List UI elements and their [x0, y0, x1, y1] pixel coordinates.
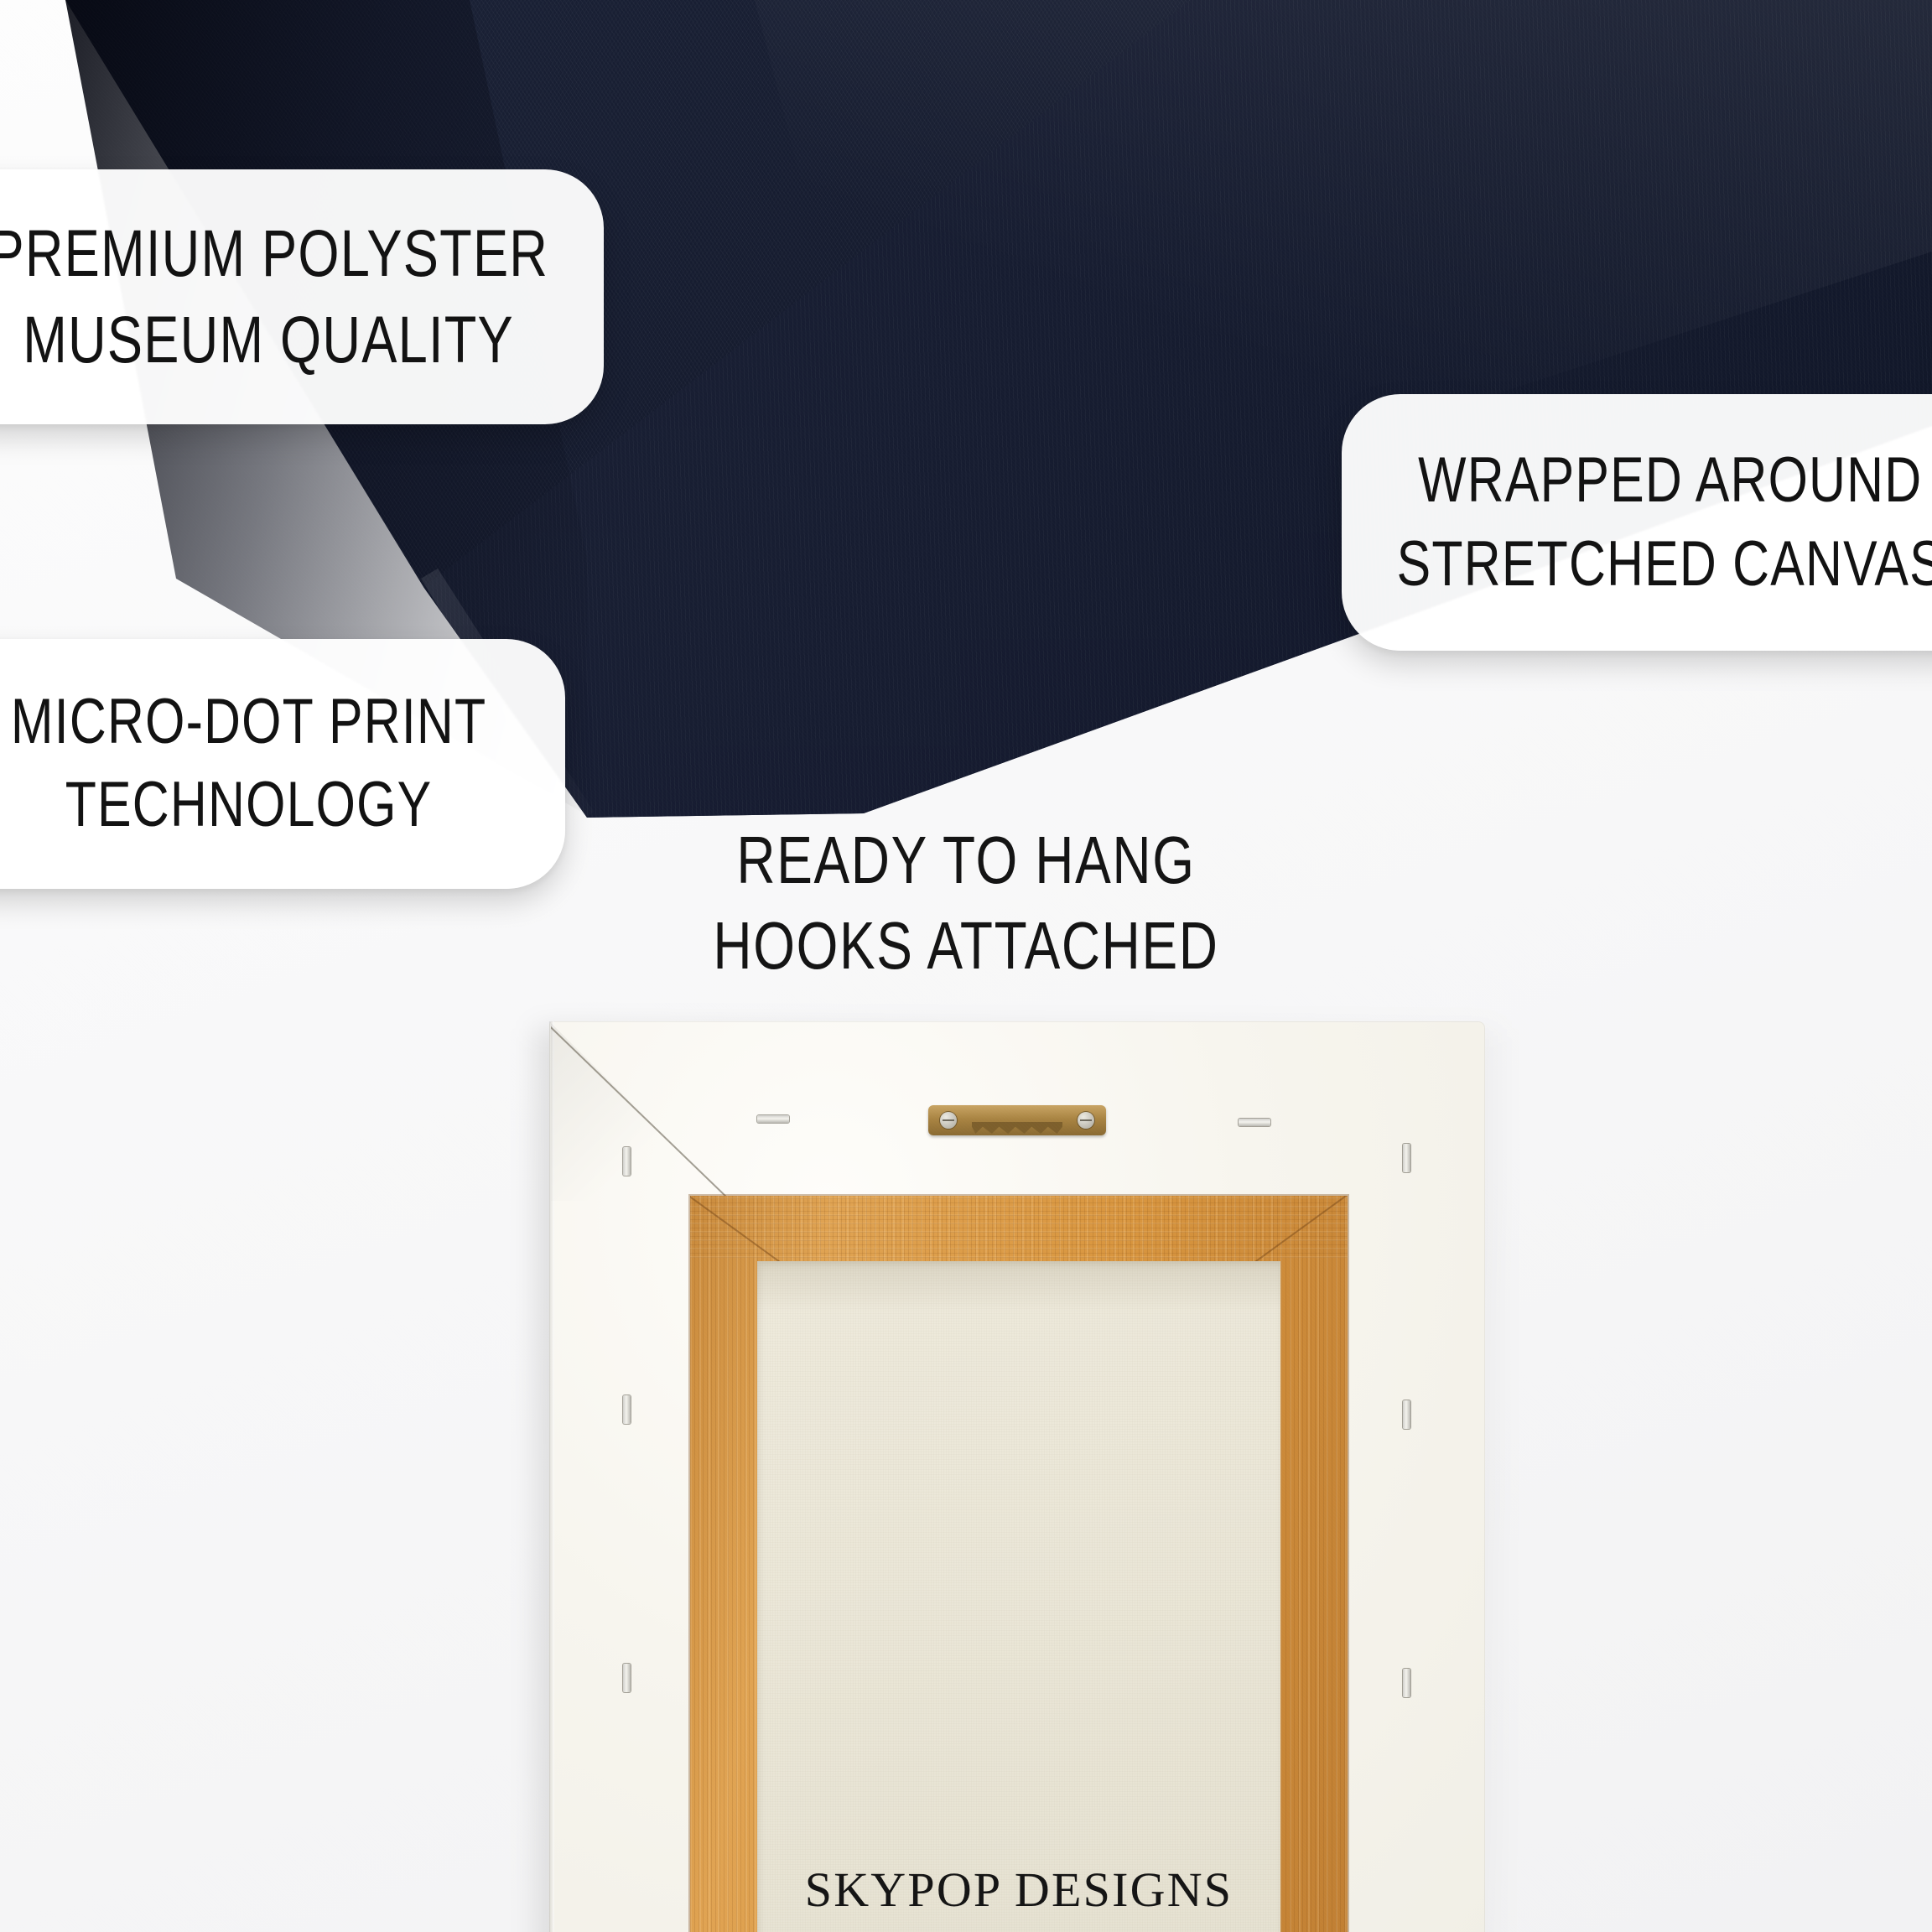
staple	[623, 1664, 631, 1692]
badge-line-1: WRAPPED AROUND	[1418, 439, 1922, 522]
hanger-screw-right-icon	[1078, 1112, 1094, 1129]
canvas-corner-fold-line	[551, 1023, 735, 1204]
badge-line-2: MUSEUM QUALITY	[23, 297, 514, 383]
premium-polyster-badge: PREMIUM POLYSTER MUSEUM QUALITY	[0, 169, 604, 424]
staple	[1239, 1119, 1270, 1126]
staple	[1403, 1669, 1410, 1697]
brand-name-text: SKYPOP DESIGNS	[757, 1862, 1280, 1918]
staple	[1403, 1144, 1410, 1172]
badge-line-1: MICRO-DOT PRINT	[11, 681, 486, 764]
staple	[757, 1115, 789, 1123]
wrapped-around-badge: WRAPPED AROUND STRETCHED CANVAS	[1342, 394, 1932, 651]
canvas-back-product: SKYPOP DESIGNS	[549, 1021, 1485, 1932]
badge-line-2: STRETCHED CANVAS	[1396, 522, 1932, 606]
infographic-canvas: PREMIUM POLYSTER MUSEUM QUALITY MICRO-DO…	[0, 0, 1932, 1932]
canvas-inner-back-surface	[757, 1261, 1280, 1932]
staple	[623, 1147, 631, 1176]
staple	[1403, 1400, 1410, 1429]
micro-dot-print-badge: MICRO-DOT PRINT TECHNOLOGY	[0, 639, 565, 889]
hanger-screw-left-icon	[940, 1112, 957, 1129]
badge-line-2: TECHNOLOGY	[65, 764, 433, 847]
sawtooth-hanger-icon	[928, 1098, 1106, 1142]
badge-line-1: PREMIUM POLYSTER	[0, 210, 548, 297]
staple	[623, 1395, 631, 1424]
canvas-inner-shading	[757, 1261, 1280, 1311]
